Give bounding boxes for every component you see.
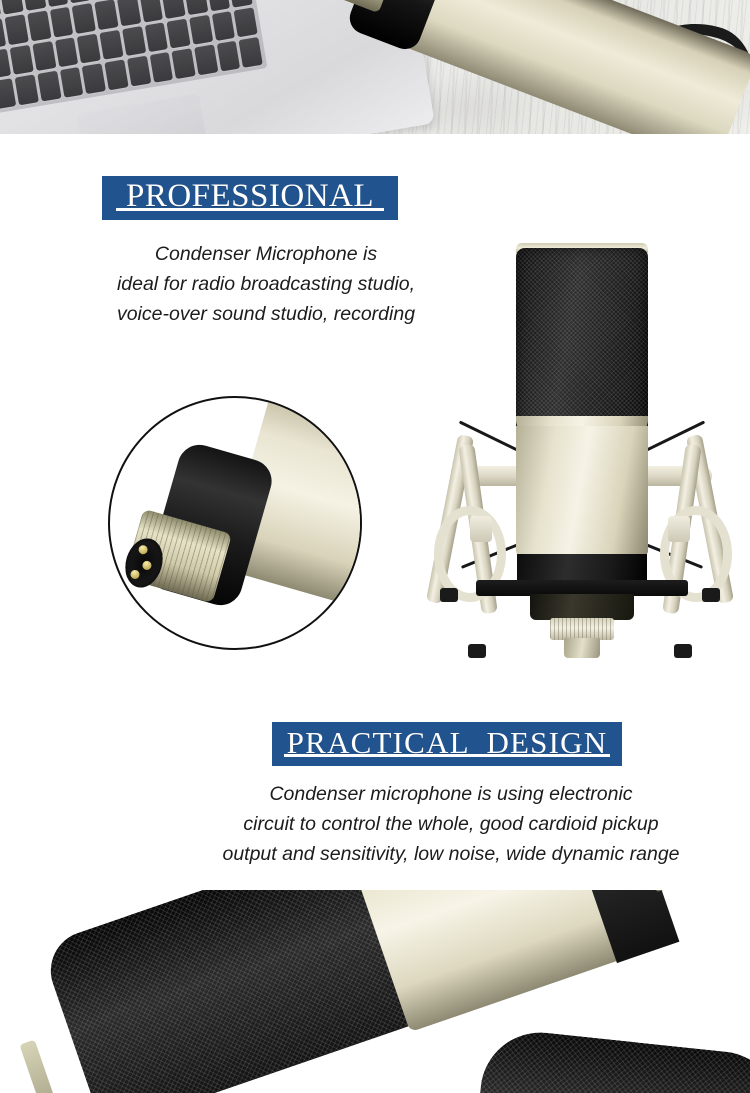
keyboard-key: [99, 30, 123, 60]
shock-mount-foot: [468, 644, 486, 658]
keyboard-key: [122, 26, 146, 56]
keyboard-key: [167, 18, 191, 48]
microphone-grille-secondary: [475, 1027, 750, 1093]
keyboard-key: [234, 7, 258, 37]
heading-banner-practical-design: PRACTICAL DESIGN: [272, 722, 622, 766]
heading-banner-professional: PROFESSIONAL: [102, 176, 398, 220]
keyboard-key: [72, 3, 96, 33]
microphone-grille: [40, 890, 416, 1093]
keyboard-key: [189, 15, 213, 45]
keyboard-key: [239, 37, 263, 67]
xlr-pin: [129, 569, 140, 580]
hero-photo-condenser-microphone-on-desk: [0, 0, 750, 134]
heading-underline: [284, 754, 610, 757]
microphone-lower-ring: [530, 594, 634, 620]
keyboard-key: [27, 11, 51, 41]
shock-mount-foot: [674, 644, 692, 658]
keyboard-key: [149, 52, 173, 82]
keyboard-key: [216, 41, 240, 71]
bottom-photo-microphone-grille-detail: [0, 890, 750, 1093]
keyboard-key: [127, 56, 151, 86]
xlr-connector-closeup: [108, 396, 362, 650]
microphone-grille-edge: [19, 1040, 60, 1093]
keyboard-key: [139, 0, 163, 22]
laptop-trackpad: [76, 94, 212, 134]
keyboard-key: [194, 45, 218, 75]
keyboard-key: [22, 0, 46, 11]
shock-mount-foot: [702, 588, 720, 602]
keyboard-key: [144, 22, 168, 52]
shock-mount-clamp: [470, 516, 492, 542]
paragraph-professional: Condenser Microphone is ideal for radio …: [66, 239, 466, 329]
keyboard-key: [5, 14, 29, 44]
condenser-microphone-with-shock-mount: [424, 248, 736, 678]
keyboard-key: [0, 0, 1, 18]
microphone-knurled-ring: [550, 618, 614, 640]
keyboard-key: [45, 0, 69, 7]
laptop-deck: [0, 0, 267, 117]
keyboard-key: [94, 0, 118, 30]
paragraph-practical-design: Condenser microphone is using electronic…: [168, 779, 734, 869]
keyboard-key: [0, 0, 24, 15]
keyboard-key: [0, 79, 17, 109]
xlr-pin: [141, 560, 152, 571]
heading-underline: [116, 208, 384, 211]
keyboard-key: [184, 0, 208, 15]
keyboard-key: [10, 45, 34, 75]
keyboard-key: [37, 71, 61, 101]
heading-banner-practical-design-label: PRACTICAL DESIGN: [287, 727, 608, 758]
keyboard-key: [206, 0, 230, 11]
shock-mount-foot: [440, 588, 458, 602]
xlr-pin: [138, 544, 149, 555]
keyboard-key: [32, 41, 56, 71]
keyboard-key: [211, 11, 235, 41]
keyboard-key: [82, 64, 106, 94]
laptop-keyboard: [0, 0, 267, 117]
product-detail-page: PROFESSIONAL Condenser Microphone is ide…: [0, 0, 750, 1093]
keyboard-key: [117, 0, 141, 26]
microphone-body: [516, 426, 648, 556]
keyboard-key: [162, 0, 186, 19]
keyboard-key: [55, 37, 79, 67]
microphone-base-stub: [564, 638, 600, 658]
keyboard-key: [15, 75, 39, 105]
keyboard-key: [105, 60, 129, 90]
shock-mount-clamp: [668, 516, 690, 542]
hero-divider: [0, 134, 750, 137]
keyboard-key: [172, 49, 196, 79]
keyboard-key: [50, 7, 74, 37]
keyboard-key: [229, 0, 253, 7]
keyboard-key: [60, 67, 84, 97]
keyboard-key: [77, 33, 101, 63]
